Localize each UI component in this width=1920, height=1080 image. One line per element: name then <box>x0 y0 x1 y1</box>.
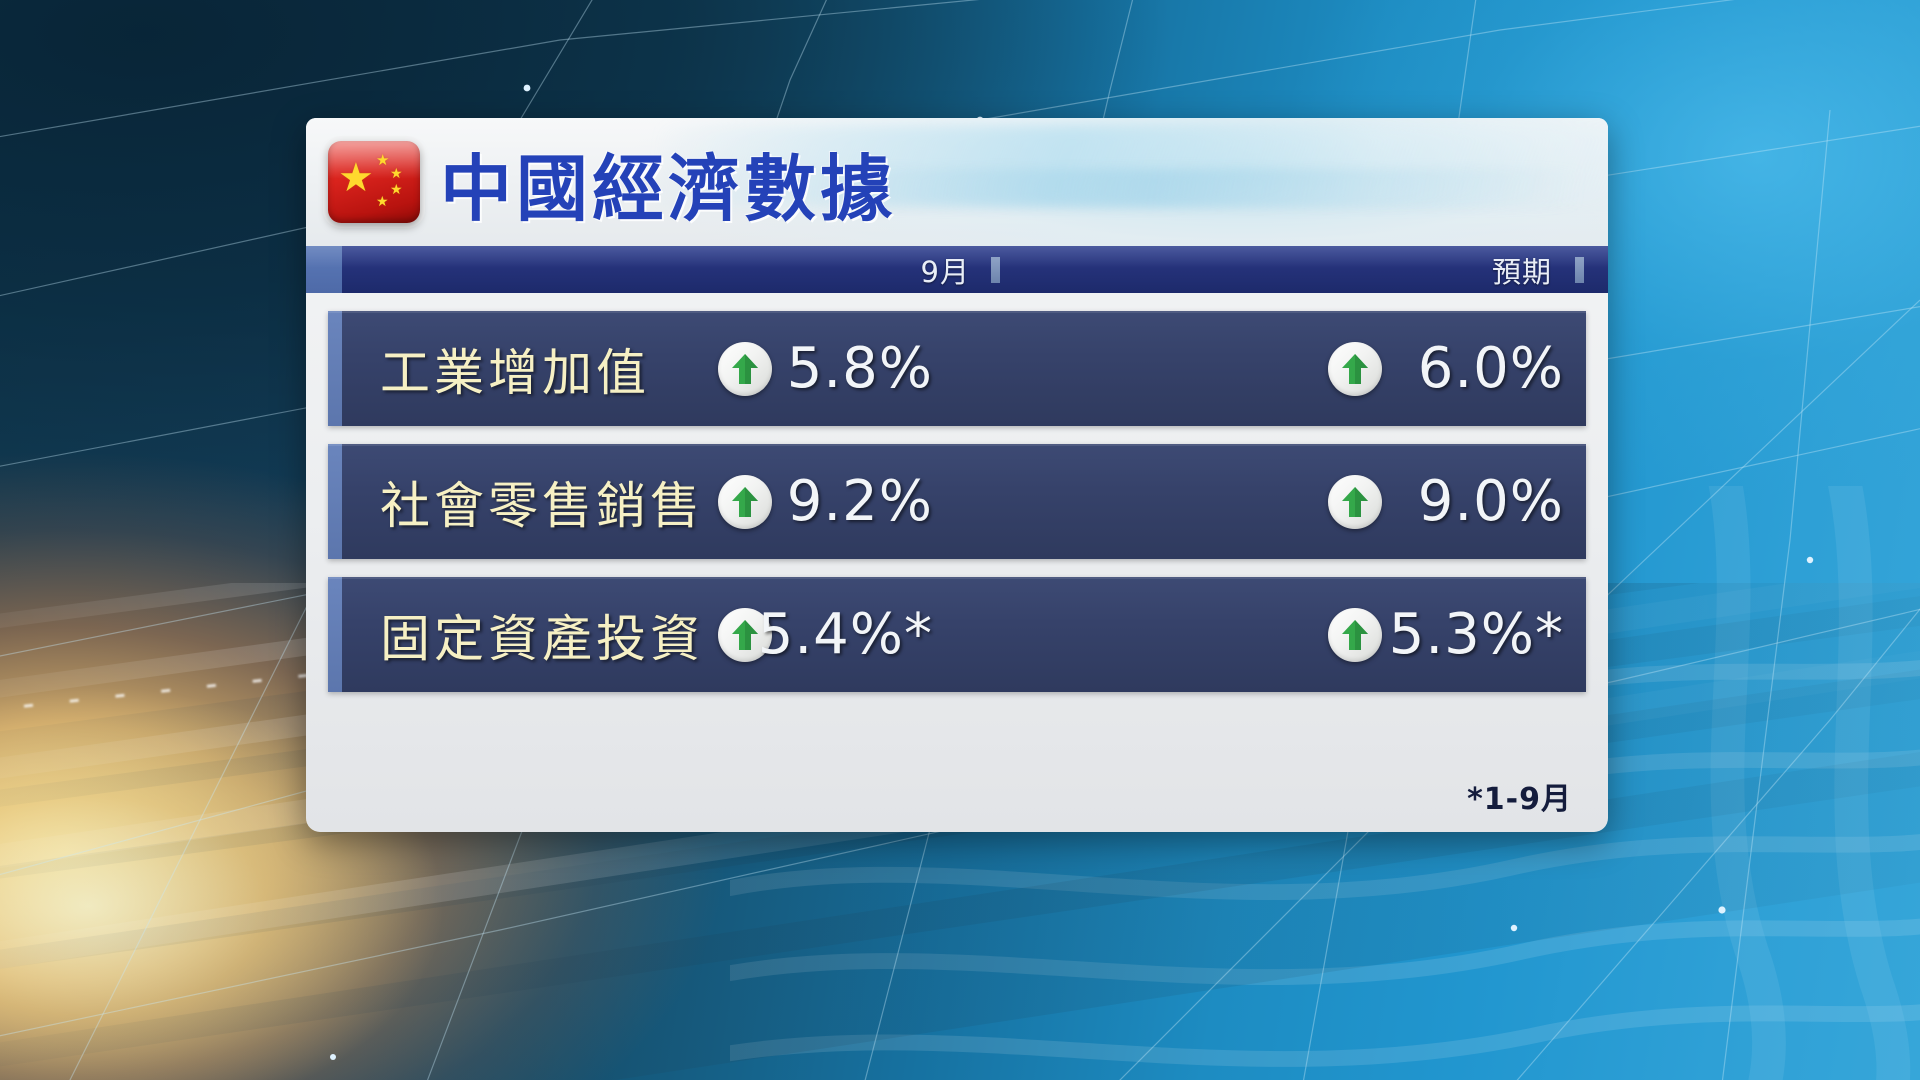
row-accent-bar <box>328 444 342 559</box>
row-value-expected: 5.3%* <box>1389 602 1564 667</box>
panel-header: ★ ★ ★ ★ ★ 中國經濟數據 <box>306 118 1608 246</box>
row-value-actual: 9.2% <box>787 469 933 534</box>
row-value-expected: 9.0% <box>1418 469 1564 534</box>
china-economic-data-panel: ★ ★ ★ ★ ★ 中國經濟數據 9月 預期 工業增加值 5.8% <box>306 118 1608 832</box>
flag-star-4: ★ <box>376 194 389 208</box>
arrow-up-icon <box>1328 475 1382 529</box>
column-header-bar: 9月 預期 <box>306 246 1608 293</box>
table-row: 社會零售銷售 9.2% 9.0% <box>328 444 1586 559</box>
row-value-actual: 5.8% <box>787 336 933 401</box>
flag-star-large: ★ <box>338 158 374 198</box>
row-value-actual: 5.4%* <box>758 602 933 667</box>
arrow-up-icon <box>718 475 772 529</box>
table-row: 固定資產投資 5.4%* 5.3%* <box>328 577 1586 692</box>
column-separator-2 <box>1575 257 1584 283</box>
header-sheen-2 <box>801 169 1582 207</box>
column-header-expected: 預期 <box>1492 249 1552 291</box>
row-label: 社會零售銷售 <box>380 466 704 538</box>
row-accent-bar <box>328 311 342 426</box>
footnote: *1-9月 <box>1467 774 1572 818</box>
flag-star-1: ★ <box>376 153 389 168</box>
row-accent-bar <box>328 577 342 692</box>
china-flag-icon: ★ ★ ★ ★ ★ <box>328 141 420 223</box>
column-header-actual: 9月 <box>921 249 970 291</box>
arrow-up-icon <box>1328 608 1382 662</box>
table-row: 工業增加值 5.8% 6.0% <box>328 311 1586 426</box>
row-label: 工業增加值 <box>380 333 650 405</box>
arrow-up-icon <box>1328 342 1382 396</box>
column-separator-1 <box>991 257 1000 283</box>
arrow-up-icon <box>718 342 772 396</box>
data-rows: 工業增加值 5.8% 6.0% 社會零售銷售 9.2% 9.0% <box>306 293 1608 692</box>
row-highlight <box>328 311 1586 313</box>
row-highlight <box>328 444 1586 446</box>
flag-star-2: ★ <box>390 166 403 180</box>
row-highlight <box>328 577 1586 579</box>
row-label: 固定資產投資 <box>380 599 704 671</box>
row-value-expected: 6.0% <box>1418 336 1564 401</box>
flag-star-3: ★ <box>390 182 403 196</box>
page-title: 中國經濟數據 <box>440 130 896 235</box>
